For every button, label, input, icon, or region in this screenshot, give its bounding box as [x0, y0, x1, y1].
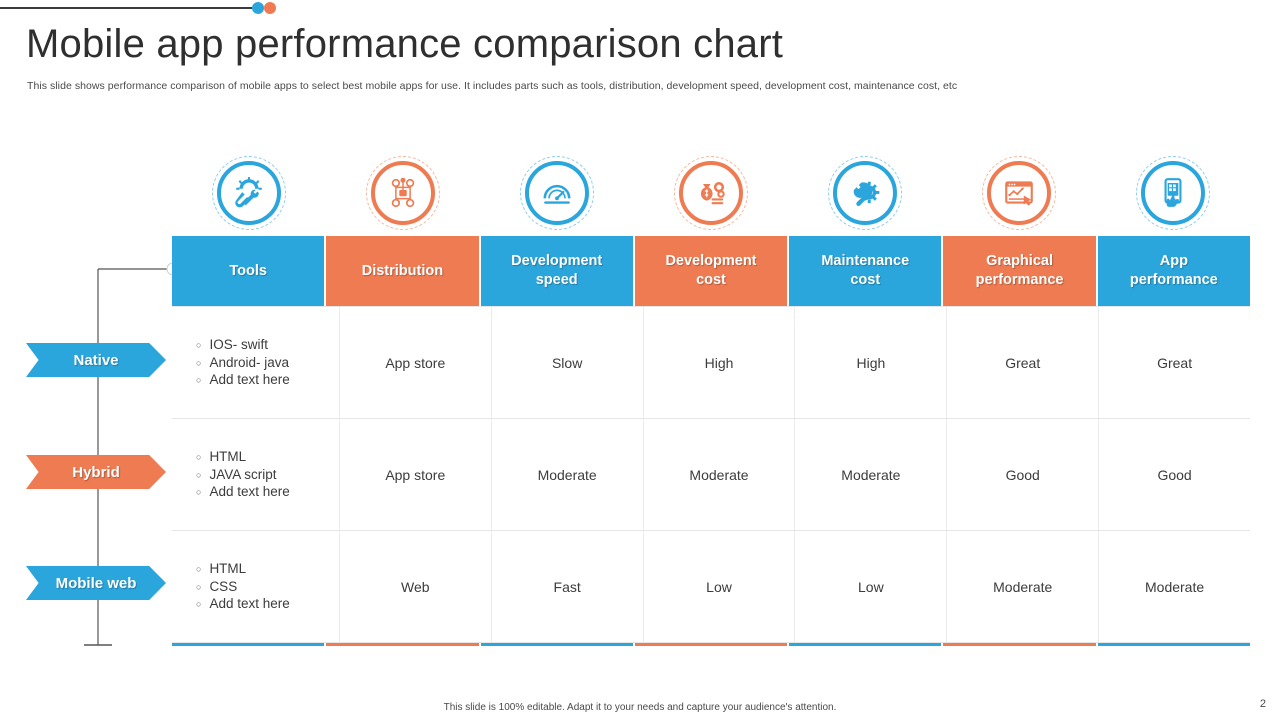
icon-cell-app-performance — [1096, 155, 1250, 231]
list-item: ○HTML — [196, 560, 290, 578]
circle-bullet-icon: ○ — [196, 583, 201, 592]
list-item: ○CSS — [196, 578, 290, 596]
column-header-development-cost[interactable]: Developmentcost — [635, 236, 787, 306]
row-arrow-label: Native — [73, 352, 118, 369]
table-row: ○HTML ○CSS ○Add text here Web Fast Low L… — [172, 531, 1250, 643]
table-row: ○HTML ○JAVA script ○Add text here App st… — [172, 419, 1250, 531]
bottom-accent-tools — [172, 643, 324, 646]
page-title: Mobile app performance comparison chart — [26, 22, 783, 66]
tools-list: ○HTML ○JAVA script ○Add text here — [196, 448, 290, 501]
list-item-label: IOS- swift — [209, 336, 268, 354]
list-item-label: JAVA script — [209, 466, 276, 484]
cell-maintenance-cost: Low — [795, 531, 947, 642]
circle-bullet-icon: ○ — [196, 600, 201, 609]
cell-app-performance: Moderate — [1099, 531, 1250, 642]
icon-cell-development-cost — [634, 155, 788, 231]
icon-cell-distribution — [326, 155, 480, 231]
cell-development-speed: Slow — [492, 307, 644, 418]
row-arrow-label: Mobile web — [56, 575, 137, 592]
top-decoration-dot-blue — [252, 2, 264, 14]
column-header-tools[interactable]: Tools — [172, 236, 324, 306]
table-header-row: Tools Distribution Developmentspeed Deve… — [172, 236, 1250, 306]
bottom-accent-development-cost — [635, 643, 787, 646]
list-item-label: Android- java — [209, 354, 289, 372]
wrench-gear-icon — [828, 156, 902, 230]
cell-tools: ○HTML ○JAVA script ○Add text here — [172, 419, 340, 530]
cell-maintenance-cost: High — [795, 307, 947, 418]
top-decoration-line — [0, 7, 256, 9]
chart-window-cursor-icon — [982, 156, 1056, 230]
footer-note: This slide is 100% editable. Adapt it to… — [0, 702, 1280, 713]
money-bag-gears-icon — [674, 156, 748, 230]
circle-bullet-icon: ○ — [196, 453, 201, 462]
cell-maintenance-cost: Moderate — [795, 419, 947, 530]
list-item-label: HTML — [209, 560, 246, 578]
icon-cell-development-speed — [480, 155, 634, 231]
row-arrow-hybrid[interactable]: Hybrid — [26, 455, 166, 489]
circle-bullet-icon: ○ — [196, 376, 201, 385]
page-number: 2 — [1260, 698, 1266, 710]
circle-bullet-icon: ○ — [196, 341, 201, 350]
cell-graphical-performance: Good — [947, 419, 1099, 530]
list-item: ○IOS- swift — [196, 336, 290, 354]
column-header-maintenance-cost[interactable]: Maintenancecost — [789, 236, 941, 306]
list-item-label: HTML — [209, 448, 246, 466]
circle-bullet-icon: ○ — [196, 359, 201, 368]
bottom-accent-graphical-performance — [943, 643, 1095, 646]
top-decoration-dot-orange — [264, 2, 276, 14]
speedometer-icon — [520, 156, 594, 230]
cell-tools: ○HTML ○CSS ○Add text here — [172, 531, 340, 642]
bottom-accent-development-speed — [481, 643, 633, 646]
mobile-phone-hand-icon — [1136, 156, 1210, 230]
cell-distribution: App store — [340, 419, 492, 530]
cell-development-speed: Moderate — [492, 419, 644, 530]
list-item-label: Add text here — [209, 371, 289, 389]
comparison-table: Tools Distribution Developmentspeed Deve… — [172, 236, 1250, 646]
row-arrow-mobile-web[interactable]: Mobile web — [26, 566, 166, 600]
cell-distribution: App store — [340, 307, 492, 418]
list-item: ○JAVA script — [196, 466, 290, 484]
list-item-label: Add text here — [209, 595, 289, 613]
column-header-graphical-performance[interactable]: Graphicalperformance — [943, 236, 1095, 306]
icon-cell-maintenance-cost — [788, 155, 942, 231]
slide-canvas: Mobile app performance comparison chart … — [0, 0, 1280, 720]
tools-list: ○HTML ○CSS ○Add text here — [196, 560, 290, 613]
table-row: ○IOS- swift ○Android- java ○Add text her… — [172, 307, 1250, 419]
cell-app-performance: Good — [1099, 419, 1250, 530]
list-item-label: CSS — [209, 578, 237, 596]
tools-list: ○IOS- swift ○Android- java ○Add text her… — [196, 336, 290, 389]
bottom-accent-distribution — [326, 643, 478, 646]
gear-tools-icon — [212, 156, 286, 230]
column-header-development-speed[interactable]: Developmentspeed — [481, 236, 633, 306]
table-body: ○IOS- swift ○Android- java ○Add text her… — [172, 306, 1250, 643]
cell-graphical-performance: Great — [947, 307, 1099, 418]
bottom-accent-maintenance-cost — [789, 643, 941, 646]
list-item: ○HTML — [196, 448, 290, 466]
bottom-accent-app-performance — [1098, 643, 1250, 646]
cell-tools: ○IOS- swift ○Android- java ○Add text her… — [172, 307, 340, 418]
row-arrow-native[interactable]: Native — [26, 343, 166, 377]
table-bottom-accent-bar — [172, 643, 1250, 646]
cell-app-performance: Great — [1099, 307, 1250, 418]
network-nodes-icon — [366, 156, 440, 230]
circle-bullet-icon: ○ — [196, 471, 201, 480]
cell-development-cost: High — [644, 307, 796, 418]
list-item: ○Add text here — [196, 483, 290, 501]
icon-cell-tools — [172, 155, 326, 231]
cell-development-cost: Moderate — [644, 419, 796, 530]
cell-graphical-performance: Moderate — [947, 531, 1099, 642]
column-header-app-performance[interactable]: Appperformance — [1098, 236, 1250, 306]
list-item: ○Android- java — [196, 354, 290, 372]
circle-bullet-icon: ○ — [196, 488, 201, 497]
page-subtitle: This slide shows performance comparison … — [27, 80, 957, 92]
icon-row — [172, 155, 1250, 231]
column-header-distribution[interactable]: Distribution — [326, 236, 478, 306]
icon-cell-graphical-performance — [942, 155, 1096, 231]
list-item-label: Add text here — [209, 483, 289, 501]
row-arrow-label: Hybrid — [72, 464, 120, 481]
cell-distribution: Web — [340, 531, 492, 642]
list-item: ○Add text here — [196, 595, 290, 613]
circle-bullet-icon: ○ — [196, 565, 201, 574]
list-item: ○Add text here — [196, 371, 290, 389]
cell-development-cost: Low — [644, 531, 796, 642]
cell-development-speed: Fast — [492, 531, 644, 642]
